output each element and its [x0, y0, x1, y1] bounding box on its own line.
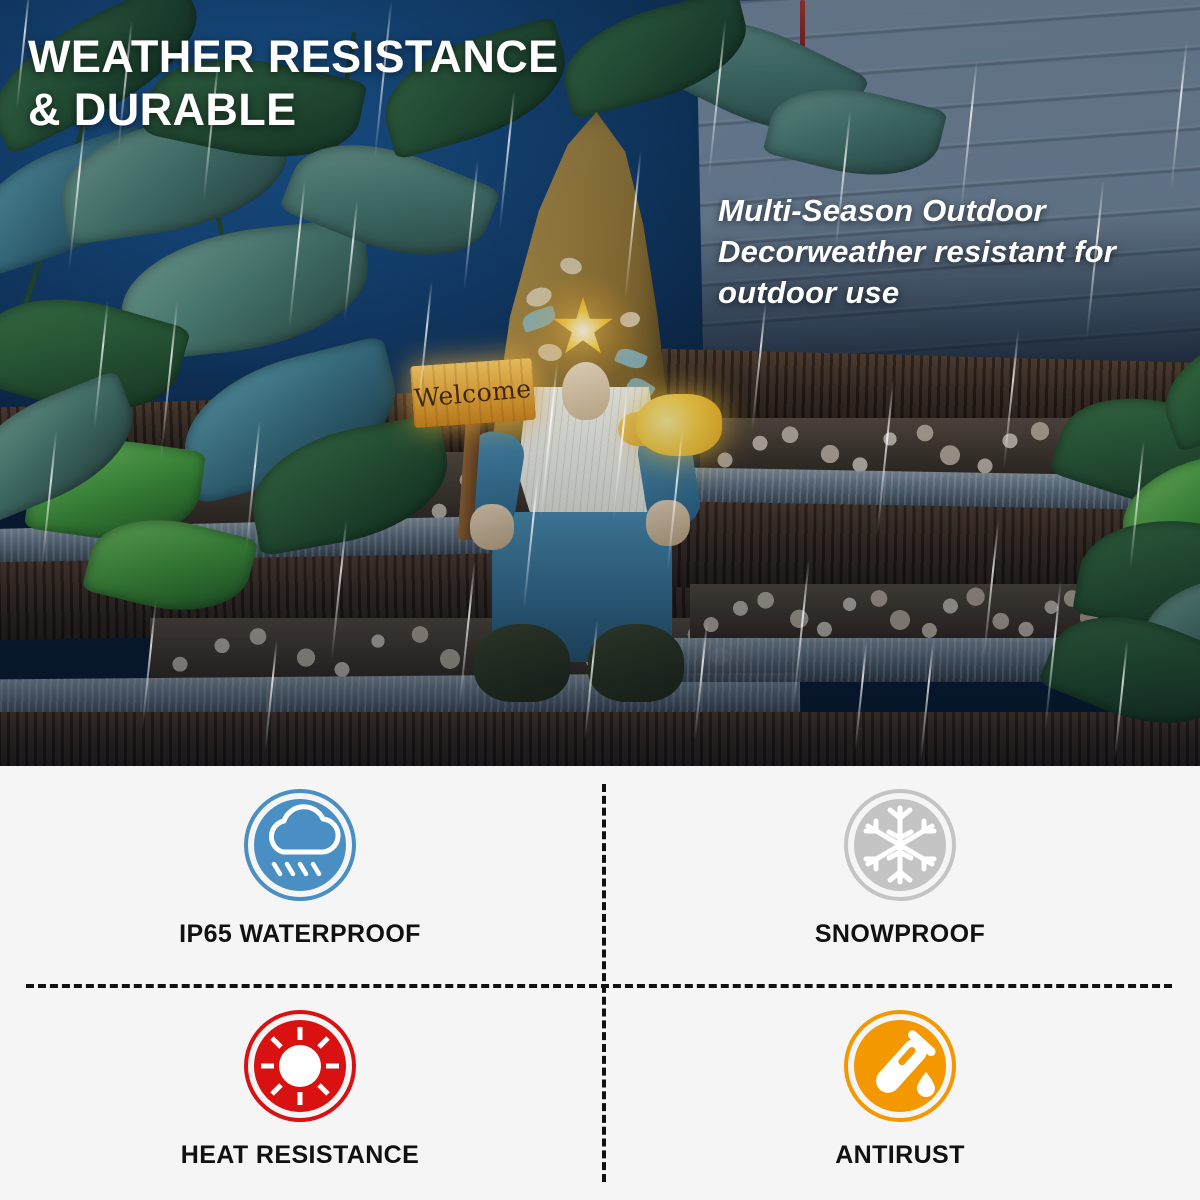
blurb-line-2: Decorweather resistant [718, 234, 1065, 269]
hero-photo: Welcome [0, 0, 1200, 766]
feature-waterproof: IP65 WATERPROOF [0, 766, 600, 983]
headline-line-2: & DURABLE [28, 83, 668, 136]
feature-heat-resistance: HEAT RESISTANCE [0, 983, 600, 1200]
blurb-line-1: Multi-Season Outdoor [718, 193, 1046, 228]
feature-label-antirust: ANTIRUST [835, 1141, 965, 1170]
hero-headline: WEATHER RESISTANCE & DURABLE [28, 30, 668, 136]
feature-antirust: ANTIRUST [600, 983, 1200, 1200]
feature-panel: IP65 WATERPROOF [0, 766, 1200, 1200]
feature-grid: IP65 WATERPROOF [0, 766, 1200, 1200]
hero-blurb: Multi-Season Outdoor Decorweather resist… [718, 190, 1188, 314]
divider-vertical [602, 784, 606, 1182]
snowflake-icon [843, 788, 957, 902]
feature-label-waterproof: IP65 WATERPROOF [179, 920, 421, 949]
test-tube-icon [843, 1009, 957, 1123]
headline-line-1: WEATHER RESISTANCE [28, 31, 559, 82]
feature-snowproof: SNOWPROOF [600, 766, 1200, 983]
rain-cloud-icon [243, 788, 357, 902]
sun-icon [243, 1009, 357, 1123]
divider-horizontal [26, 984, 1172, 988]
feature-label-heat-resistance: HEAT RESISTANCE [181, 1141, 419, 1170]
feature-label-snowproof: SNOWPROOF [815, 920, 985, 949]
